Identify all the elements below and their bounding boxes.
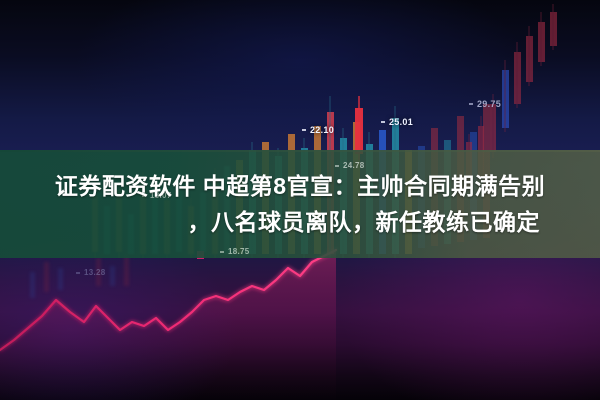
price-label-29-75: 29.75: [477, 99, 501, 109]
headline-line-2: ，八名球员离队，新任教练已确定: [188, 204, 593, 240]
candles-upper-left-cluster: [30, 254, 129, 298]
headline-line-1: 证券配资软件 中超第8官宣：主帅合同期满告别: [55, 168, 545, 204]
price-label-13-28: 13.28: [84, 268, 106, 277]
headline-overlay: 证券配资软件 中超第8官宣：主帅合同期满告别 ，八名球员离队，新任教练已确定: [0, 150, 600, 258]
price-label-22-10: 22.10: [310, 125, 334, 135]
pink-area-fill: [0, 250, 336, 400]
screenshot-root: 13.28 18.07 18.75 24.78 22.10 25.01 29.7…: [0, 0, 600, 400]
price-label-25-01: 25.01: [389, 117, 413, 127]
